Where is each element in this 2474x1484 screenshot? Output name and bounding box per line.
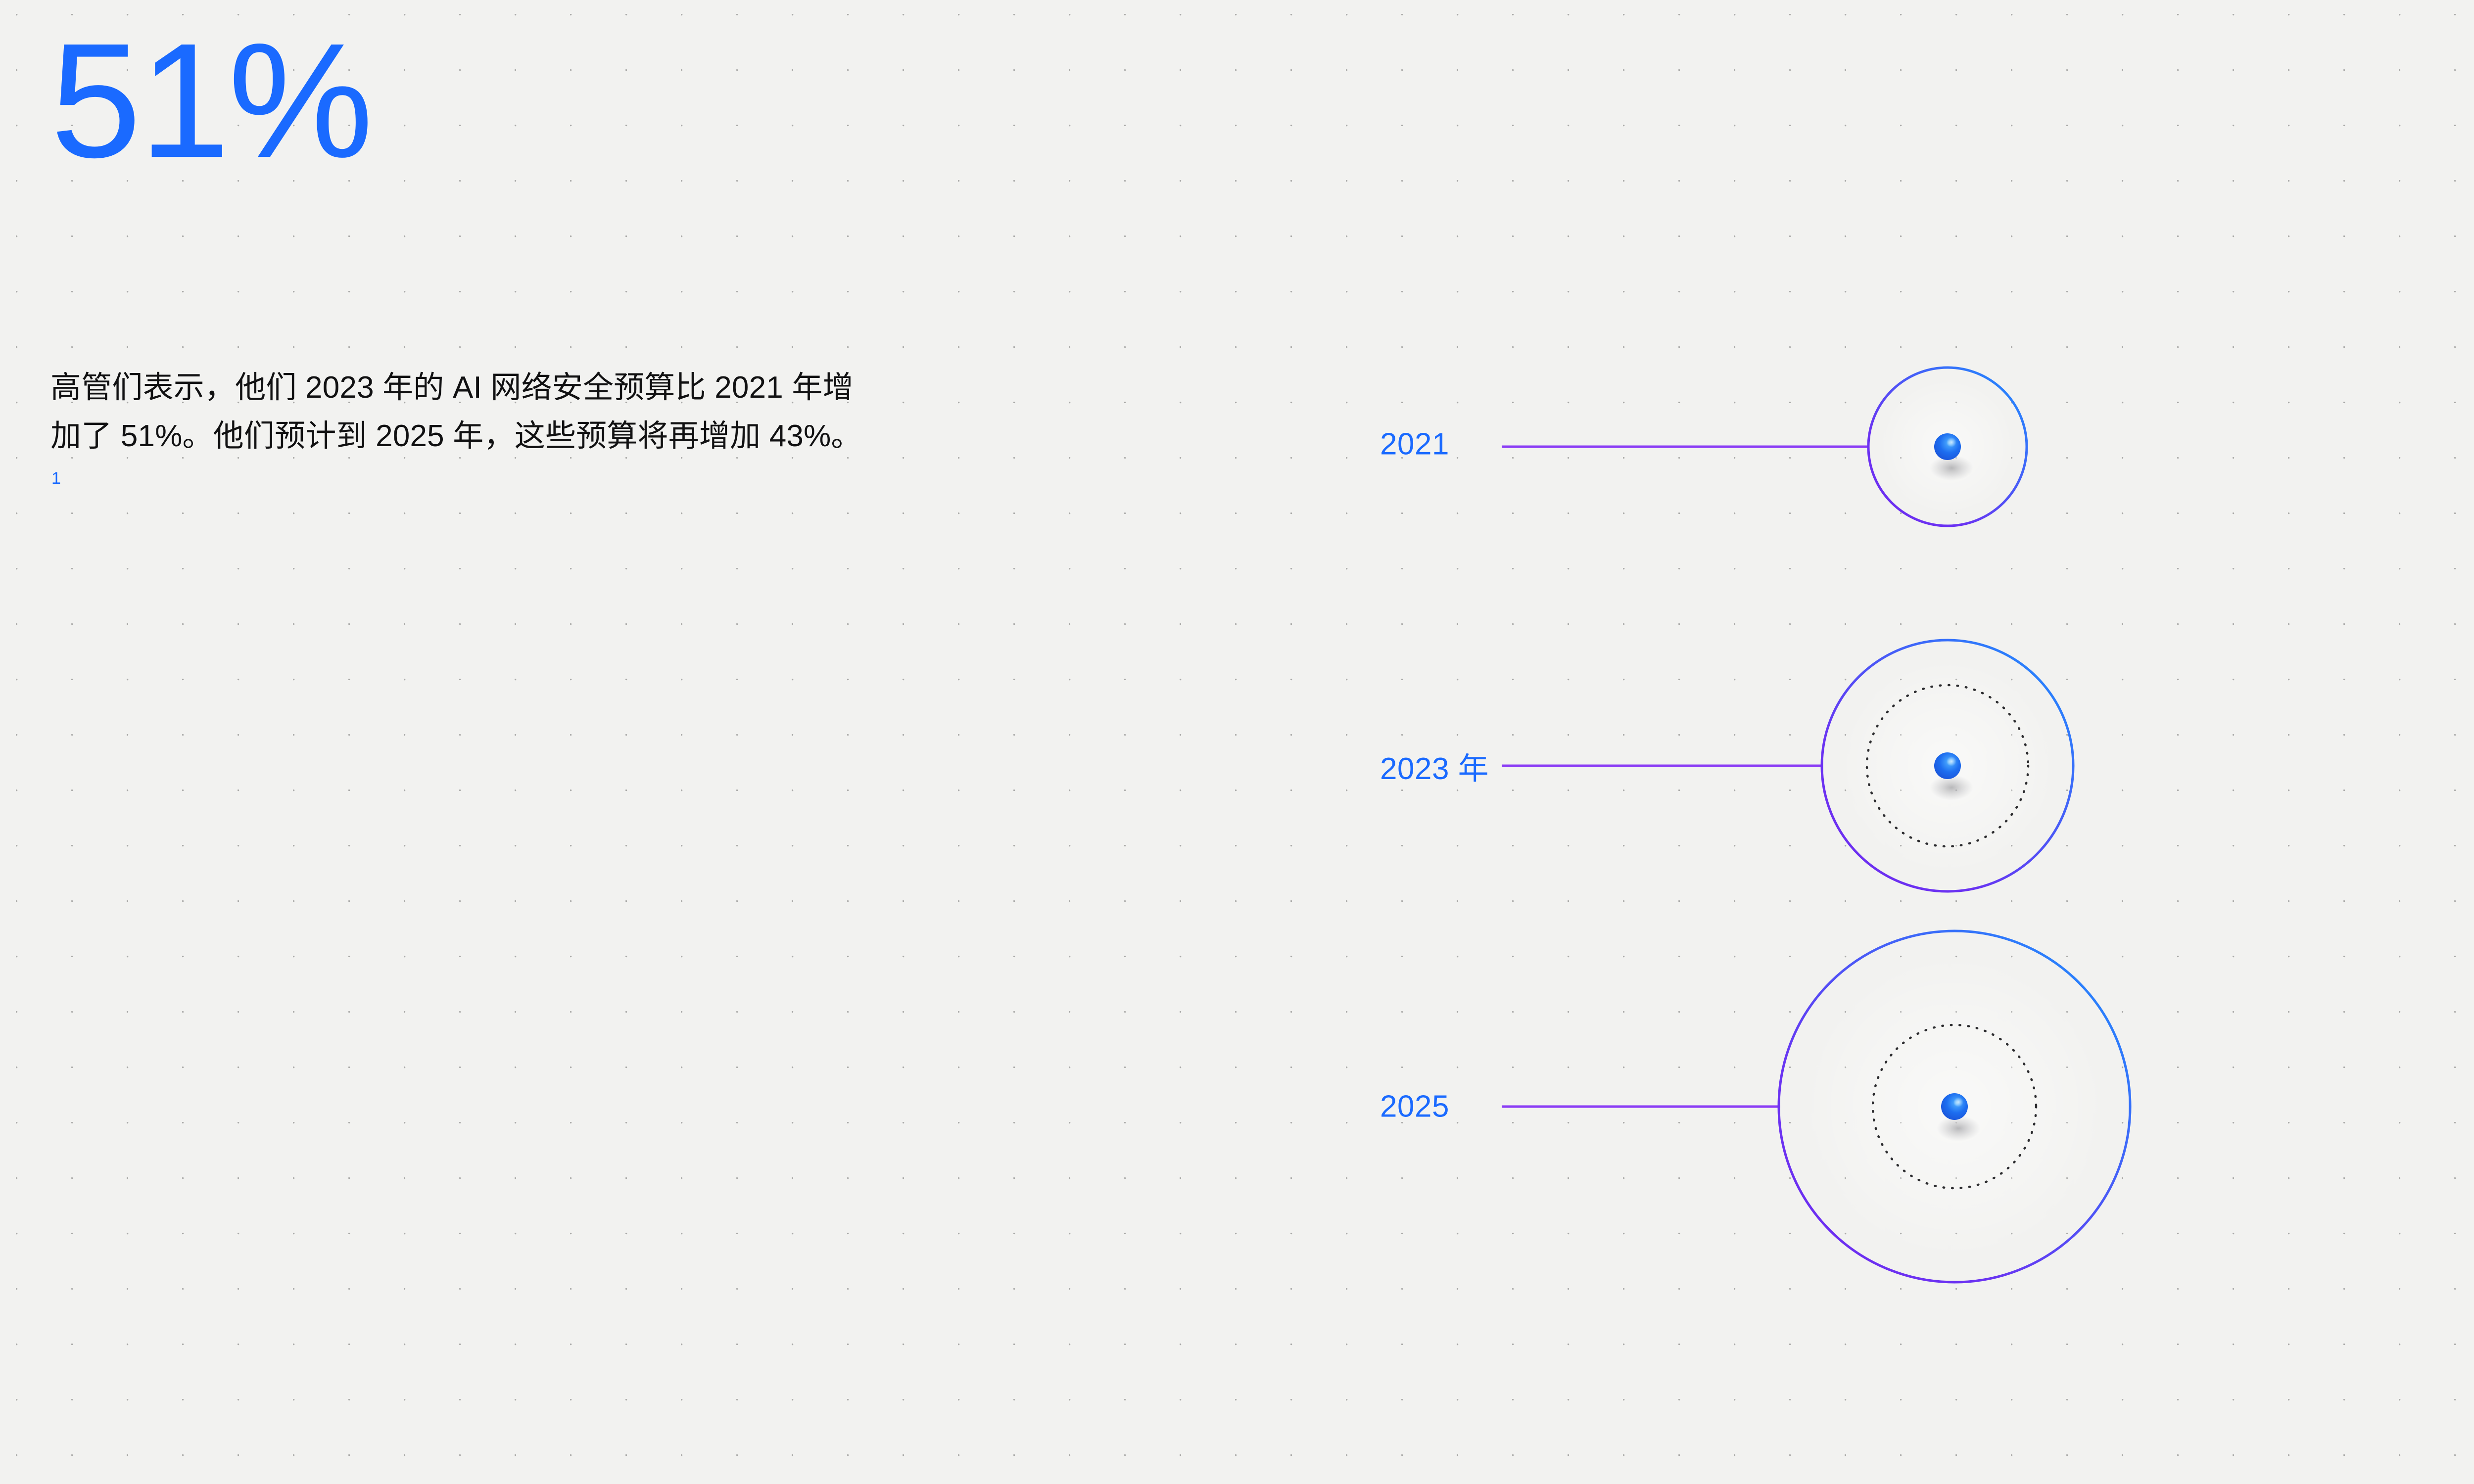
bubble-reference-ring-2025 — [1873, 1025, 2036, 1188]
bubble-ring-2023 — [1822, 640, 2073, 891]
bubble-label-2025: 2025 — [1380, 1089, 1449, 1124]
bubble-center-sphere-2023 — [1934, 752, 1961, 779]
footer-bar: ‹ 上一章 下一章 › 8 — [0, 1385, 2474, 1484]
bubble-group-2025 — [1502, 931, 2130, 1282]
bubble-label-2021: 2021 — [1380, 427, 1449, 462]
slide-page: 51% 高管们表示，他们 2023 年的 AI 网络安全预算比 2021 年增加… — [0, 0, 2474, 1484]
footnote-marker[interactable]: 1 — [51, 469, 61, 488]
bubble-group-2023 — [1502, 640, 2073, 891]
bubble-ring-2021 — [1868, 368, 2027, 526]
bubble-center-sphere-2021 — [1934, 433, 1961, 460]
bubble-reference-ring-2023 — [1867, 685, 2028, 846]
bubble-group-2021 — [1502, 368, 2027, 526]
bubble-ring-2025 — [1779, 931, 2130, 1282]
body-paragraph-text: 高管们表示，他们 2023 年的 AI 网络安全预算比 2021 年增加了 51… — [50, 371, 862, 453]
bubble-label-2023: 2023 年 — [1380, 743, 1489, 788]
body-paragraph: 高管们表示，他们 2023 年的 AI 网络安全预算比 2021 年增加了 51… — [50, 364, 862, 509]
bubble-center-sphere-2025 — [1941, 1093, 1968, 1120]
left-content-column: 51% 高管们表示，他们 2023 年的 AI 网络安全预算比 2021 年增加… — [48, 0, 889, 1385]
stat-headline: 51% — [50, 19, 371, 182]
